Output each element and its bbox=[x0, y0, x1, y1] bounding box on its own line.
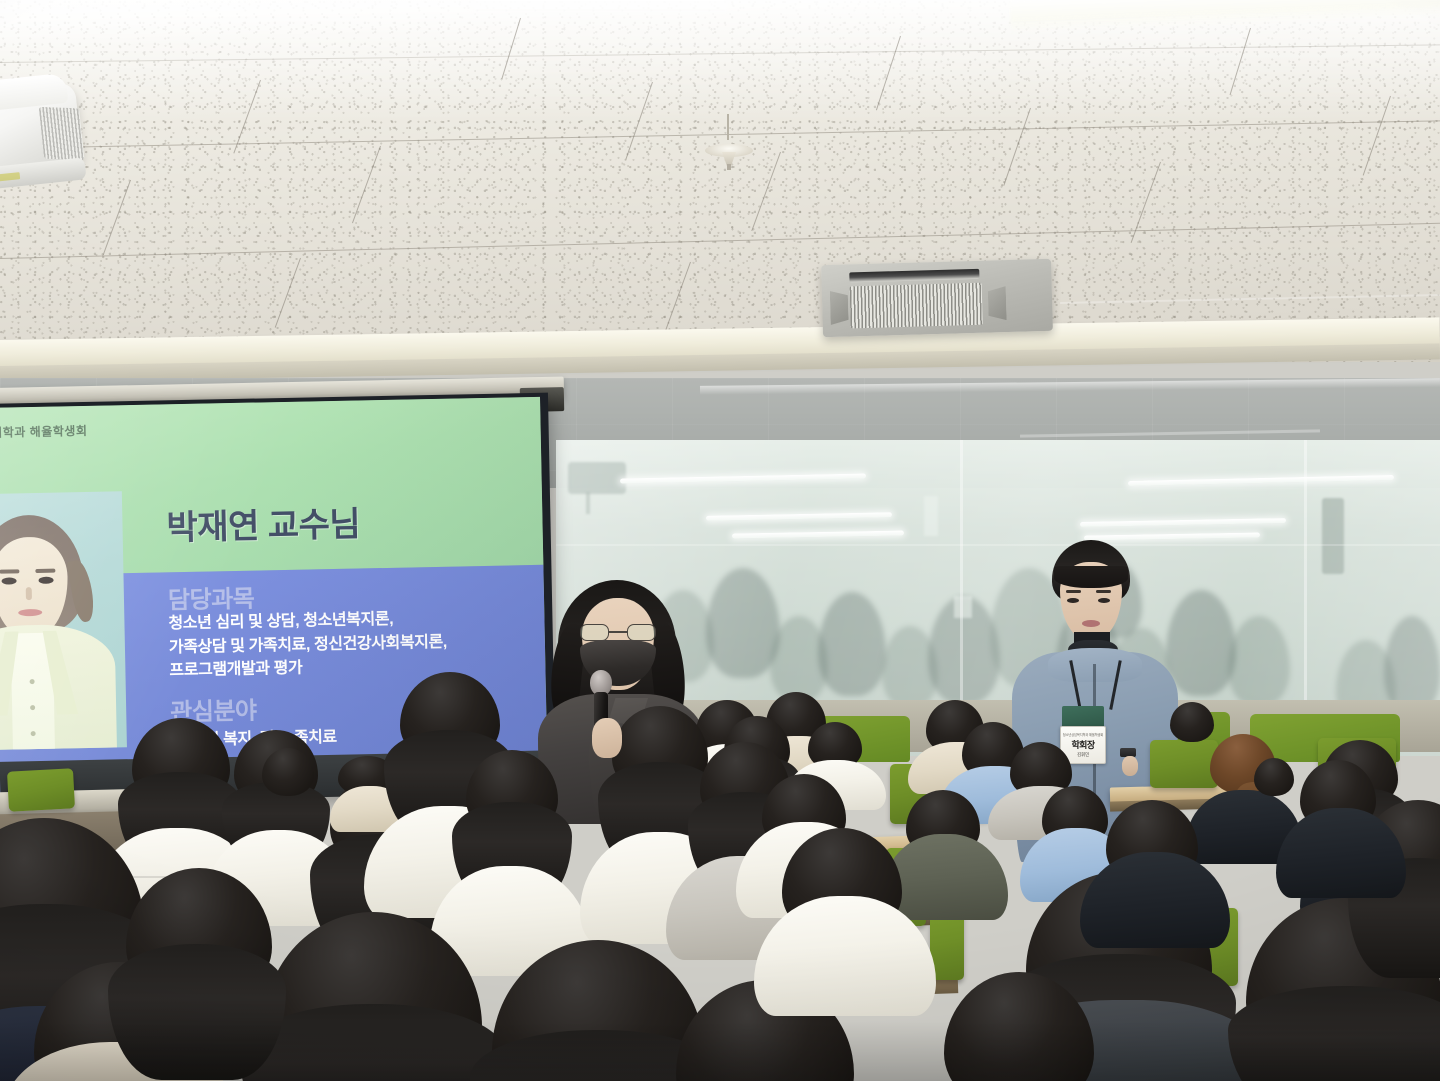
projector-vent-icon bbox=[39, 107, 85, 160]
hand bbox=[1122, 756, 1138, 776]
slide-section-label-courses: 담당과목 bbox=[168, 579, 255, 616]
ac-grille-icon bbox=[850, 283, 983, 329]
ceiling bbox=[0, 0, 1440, 362]
ceiling-mounted-projector bbox=[0, 73, 98, 204]
hand bbox=[592, 718, 622, 758]
badge-org-small: 청소년상담복지학과 해율학생회 bbox=[1063, 732, 1103, 737]
badge-name: 김휘민 bbox=[1077, 752, 1089, 758]
chair bbox=[1150, 740, 1218, 788]
slide-title: 박재연 교수님 bbox=[166, 496, 361, 549]
lecture-hall-photo: …년상담복지학과 해율학생회 박재연 bbox=[0, 0, 1440, 1081]
badge-role: 학회장 bbox=[1071, 738, 1094, 751]
professor-portrait-photo bbox=[0, 491, 127, 751]
slide-courses-body: 청소년 심리 및 상담, 청소년복지론, 가족상담 및 가족치료, 정신건강사회… bbox=[168, 605, 545, 684]
ceiling-light-glow bbox=[470, 0, 730, 16]
fire-sprinkler-head bbox=[705, 138, 753, 172]
badge-header-strip: 청소년상담복지학과 해율학생회 bbox=[1062, 706, 1104, 728]
ceiling-cassette-air-conditioner bbox=[821, 259, 1053, 337]
slide-header-text: …년상담복지학과 해율학생회 bbox=[0, 422, 88, 442]
chair bbox=[7, 768, 75, 811]
